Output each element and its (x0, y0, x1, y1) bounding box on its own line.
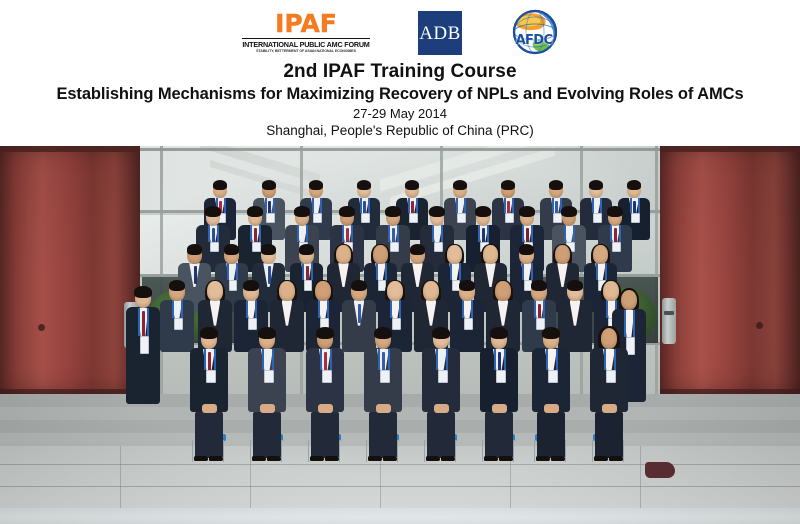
participant (190, 324, 228, 412)
participant-hands (434, 404, 449, 413)
participant-lanyard (306, 225, 308, 241)
participant-lanyard (446, 349, 448, 370)
participant-hair (261, 244, 277, 254)
title-block: 2nd IPAF Training Course Establishing Me… (0, 60, 800, 140)
participant-hands (602, 404, 617, 413)
participant-lanyard (138, 308, 140, 337)
chair-leg (366, 440, 367, 462)
participant-lanyard (504, 198, 506, 213)
participant-hair (549, 180, 564, 190)
participant-hair (224, 244, 240, 254)
participant-hair (299, 244, 315, 254)
participant-hair (374, 327, 392, 339)
participant-hands (492, 404, 507, 413)
column-cap (0, 146, 140, 152)
participant-shoe (536, 456, 550, 461)
participant-head (447, 245, 461, 263)
participant-hair (589, 180, 604, 190)
chair-leg (592, 440, 593, 462)
participant-lanyard (330, 349, 332, 370)
participant-head (279, 281, 294, 300)
participant-lanyard (297, 225, 299, 241)
participant-hair (134, 286, 152, 298)
participant-hands (318, 404, 333, 413)
participant-lanyard (432, 225, 434, 241)
participant-lanyard (487, 225, 489, 241)
participant-lanyard (546, 349, 548, 370)
pavement (0, 446, 800, 524)
participant-lanyard (259, 225, 261, 241)
participant-legs (485, 412, 513, 458)
participant-badge (140, 336, 149, 354)
participant-badge (322, 370, 332, 383)
participant-lanyard (471, 300, 473, 318)
participant-shoe (209, 456, 223, 461)
participant-lanyard (318, 300, 320, 318)
participant-shoe (594, 456, 608, 461)
chair-leg (513, 440, 514, 462)
participant-lanyard (619, 225, 621, 241)
ipaf-logo: IPAF IPAF INTERNATIONAL PUBLIC AMC FORUM… (236, 9, 376, 57)
participant-hair (262, 180, 277, 190)
page-subtitle: Establishing Mechanisms for Maximizing R… (0, 84, 800, 105)
participant-lanyard (262, 349, 264, 370)
logo-row: IPAF IPAF INTERNATIONAL PUBLIC AMC FORUM… (0, 6, 800, 60)
participant-badge (438, 370, 448, 383)
column-boss (756, 322, 763, 329)
participant-hair (316, 327, 334, 339)
participant-shoe (609, 456, 623, 461)
participant-shoe (383, 456, 397, 461)
participant-lanyard (610, 225, 612, 241)
participant-hair (561, 206, 577, 216)
participant-hair (542, 327, 560, 339)
ipaf-subtitle: INTERNATIONAL PUBLIC AMC FORUM (242, 38, 369, 49)
chair-leg (397, 440, 398, 462)
participant-shoe (499, 456, 513, 461)
participant-lanyard (436, 349, 438, 370)
participant-shoe (551, 456, 565, 461)
entrance-step (0, 420, 800, 433)
afdc-wordmark: AFDC (504, 33, 564, 48)
participant-lanyard (604, 349, 606, 370)
participant-legs (253, 412, 281, 458)
participant-hair (213, 180, 228, 190)
participant-badge (174, 318, 183, 330)
participant-head (555, 245, 569, 263)
chair-leg (482, 440, 483, 462)
participant-legs (195, 412, 223, 458)
participant-hair (385, 206, 401, 216)
participant-lanyard (273, 198, 275, 213)
participant-head (373, 245, 387, 263)
participant-lanyard (342, 225, 344, 241)
entrance-column-left (0, 146, 140, 394)
participant (532, 324, 570, 412)
participant-hair (169, 280, 186, 291)
participant-lanyard (441, 225, 443, 241)
trash-bin (662, 298, 676, 344)
participant-head (483, 245, 497, 263)
participant-lanyard (504, 349, 506, 370)
chair-leg (192, 440, 193, 462)
participant-lanyard (368, 198, 370, 213)
participant-hair (607, 206, 623, 216)
participant-lanyard (564, 225, 566, 241)
participant-shoe (441, 456, 455, 461)
participant (422, 324, 460, 412)
chair-leg (623, 440, 624, 462)
participant-lanyard (399, 300, 401, 318)
participant-hair (247, 206, 263, 216)
participant-lanyard (147, 308, 149, 337)
participant-head (387, 281, 402, 300)
group-photo (0, 146, 800, 524)
participant-hair (567, 280, 584, 291)
event-location: Shanghai, People's Republic of China (PR… (0, 122, 800, 140)
participant (480, 324, 518, 412)
participant (306, 324, 344, 412)
participant-badge (606, 370, 616, 383)
participant-shoe (310, 456, 324, 461)
ipaf-wordmark-text: IPAF (275, 9, 337, 38)
participant-hair (453, 180, 468, 190)
participant-lanyard (327, 300, 329, 318)
participant-lanyard (250, 225, 252, 241)
participant-lanyard (390, 300, 392, 318)
chair-leg (455, 440, 456, 462)
entrance-column-right (660, 146, 800, 394)
participant-badge (409, 213, 417, 223)
participant-shoe (267, 456, 281, 461)
participant-head (315, 281, 330, 300)
handbag (645, 462, 675, 478)
participant-head (621, 290, 637, 310)
chair-leg (534, 440, 535, 462)
participant-hands (376, 404, 391, 413)
participant-lanyard (217, 225, 219, 241)
participant-head (336, 245, 350, 263)
participant-lanyard (204, 349, 206, 370)
participant-hair (501, 180, 516, 190)
participant (160, 278, 194, 352)
participant-lanyard (456, 198, 458, 213)
participant-hands (202, 404, 217, 413)
chair-leg (250, 440, 251, 462)
window-mullion (655, 146, 658, 394)
participant-lanyard (214, 349, 216, 370)
participant-lanyard (573, 225, 575, 241)
participant-tie (358, 304, 361, 323)
participant-lanyard (378, 349, 380, 370)
participant-hair (200, 327, 218, 339)
participant-hair (243, 280, 260, 291)
participant-hair (627, 180, 642, 190)
participant-lanyard (388, 225, 390, 241)
column-cap (660, 146, 800, 152)
participant-badge (464, 318, 473, 330)
chair-leg (308, 440, 309, 462)
participant-head (423, 281, 438, 300)
adb-logo: ADB (418, 11, 462, 55)
participant-lanyard (246, 300, 248, 318)
participant-shoe (484, 456, 498, 461)
participant-badge (206, 370, 216, 383)
participant-badge (380, 370, 390, 383)
participant-legs (537, 412, 565, 458)
participant-lanyard (522, 225, 524, 241)
participant-head (601, 328, 618, 349)
participant-lanyard (351, 225, 353, 241)
participant-lanyard (397, 225, 399, 241)
participant-hair (258, 327, 276, 339)
participant-lanyard (614, 349, 616, 370)
participant-hair (339, 206, 355, 216)
participant-lanyard (478, 225, 480, 241)
participant-hair (205, 206, 221, 216)
participant-lanyard (592, 198, 594, 213)
chair-leg (339, 440, 340, 462)
participant-lanyard (208, 225, 210, 241)
participant-legs (369, 412, 397, 458)
participant-shoe (252, 456, 266, 461)
participant-head (593, 245, 607, 263)
ipaf-wordmark-icon: IPAF IPAF (275, 12, 337, 36)
participant-lanyard (320, 198, 322, 213)
participant-hair (351, 280, 368, 291)
participant-hair (519, 244, 535, 254)
participant-lanyard (320, 349, 322, 370)
participant-lanyard (606, 300, 608, 318)
participant-badge (457, 213, 465, 223)
participant-hair (531, 280, 548, 291)
participant-lanyard (633, 310, 635, 338)
participant-hair (294, 206, 310, 216)
entrance-step (0, 433, 800, 446)
afdc-logo: AFDC (504, 7, 564, 59)
participant-legs (427, 412, 455, 458)
window-mullion (160, 146, 163, 394)
participant-lanyard (494, 349, 496, 370)
adb-wordmark: ADB (419, 24, 461, 43)
participant-lanyard (556, 349, 558, 370)
participant (364, 324, 402, 412)
participant-hair (429, 206, 445, 216)
participant-lanyard (462, 300, 464, 318)
participant (126, 284, 160, 404)
participant-hair (405, 180, 420, 190)
participant (590, 324, 628, 412)
participant-badge (548, 370, 558, 383)
participant-hair (459, 280, 476, 291)
participant-badge (264, 370, 274, 383)
participant-shoe (194, 456, 208, 461)
participant-lanyard (543, 300, 545, 318)
participant-hair (187, 244, 203, 254)
participant-lanyard (181, 300, 183, 318)
ipaf-tagline: STABILITY, BETTERMENT OF ASIAN NATIONAL … (256, 49, 356, 54)
chair-leg (223, 440, 224, 462)
participant-lanyard (531, 225, 533, 241)
participant-hands (260, 404, 275, 413)
participant-hair (475, 206, 491, 216)
participant-hair (432, 327, 450, 339)
page-title: 2nd IPAF Training Course (0, 60, 800, 84)
participant-hands (544, 404, 559, 413)
participant-lanyard (416, 198, 418, 213)
chair-leg (424, 440, 425, 462)
participant-lanyard (255, 300, 257, 318)
participant-hair (519, 206, 535, 216)
bin-slot (664, 311, 674, 315)
participant-hair (357, 180, 372, 190)
participant-shoe (325, 456, 339, 461)
participant-lanyard (534, 300, 536, 318)
participant-hair (309, 180, 324, 190)
gravel-strip (0, 508, 800, 524)
participant-badge (496, 370, 506, 383)
chair-leg (565, 440, 566, 462)
participant-legs (311, 412, 339, 458)
event-date: 27-29 May 2014 (0, 105, 800, 122)
participant-shoe (368, 456, 382, 461)
participant (248, 324, 286, 412)
participant-head (207, 281, 222, 300)
chair-leg (281, 440, 282, 462)
participant-lanyard (272, 349, 274, 370)
participant-hair (490, 327, 508, 339)
participant-lanyard (638, 198, 640, 213)
participant-shoe (426, 456, 440, 461)
participant-legs (595, 412, 623, 458)
participant-head (495, 281, 510, 300)
header: IPAF IPAF INTERNATIONAL PUBLIC AMC FORUM… (0, 0, 800, 146)
pavement-joint (640, 446, 641, 508)
participant-lanyard (388, 349, 390, 370)
column-boss (38, 324, 45, 331)
participant-lanyard (172, 300, 174, 318)
participant-hair (410, 244, 426, 254)
pavement-joint (120, 446, 121, 508)
poster-page: IPAF IPAF INTERNATIONAL PUBLIC AMC FORUM… (0, 0, 800, 524)
participant-badge (631, 213, 639, 223)
